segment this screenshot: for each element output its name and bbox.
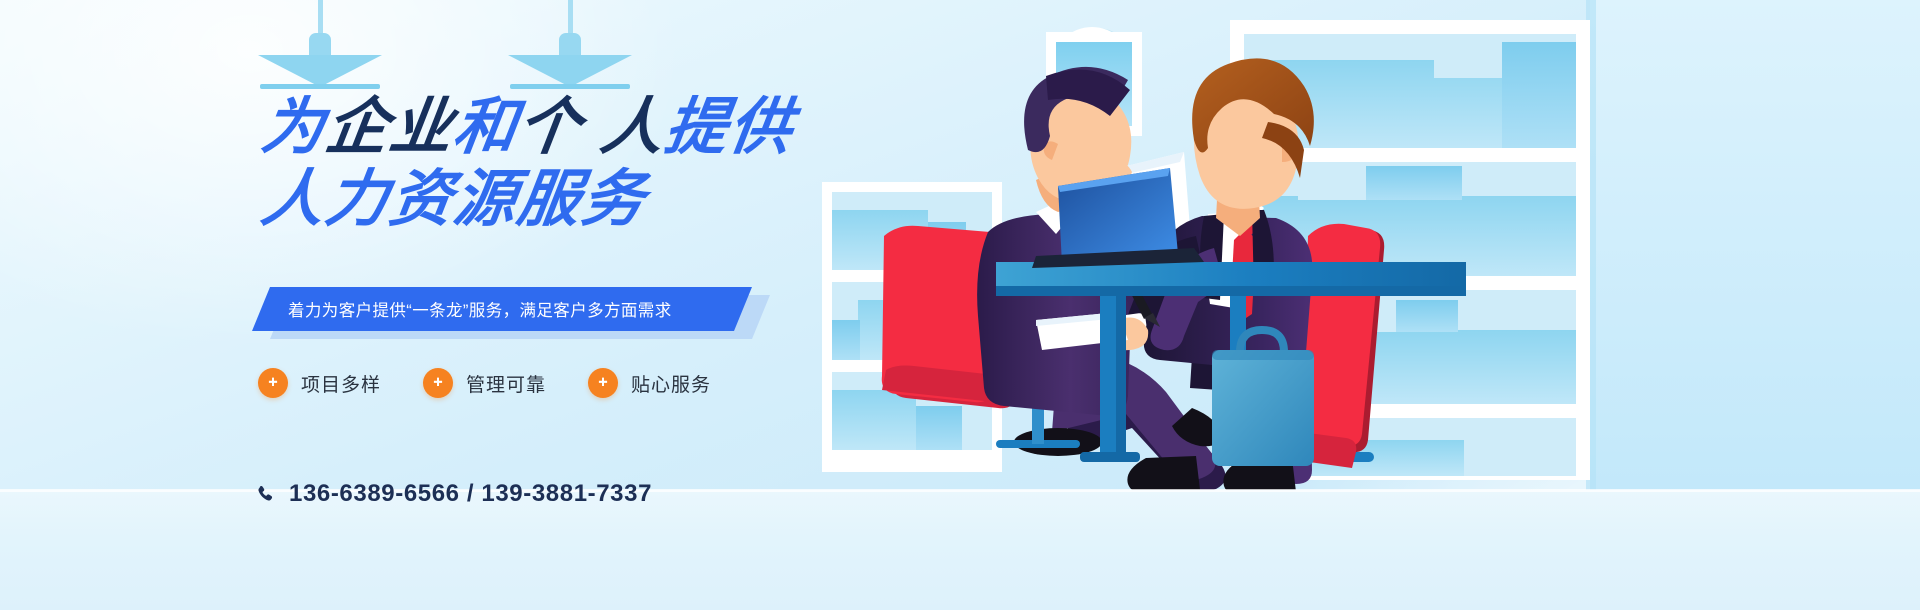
headline-part-3: 和: [449, 95, 522, 161]
desk-leg-left: [1100, 296, 1116, 456]
headline-part-1: 为: [257, 95, 330, 161]
contact-phone[interactable]: 136-6389-6566 / 139-3881-7337: [256, 480, 652, 508]
briefcase: [1212, 330, 1314, 466]
headline-part-5: 提供: [661, 95, 798, 161]
phone-number: 136-6389-6566 / 139-3881-7337: [289, 480, 652, 508]
plus-icon: [588, 368, 618, 398]
headline-line-1: 为企业和个 人提供: [257, 95, 798, 161]
hero-banner: 为企业和个 人提供 人力资源服务 着力为客户提供“一条龙”服务，满足客户多方面需…: [0, 0, 1920, 610]
subtitle-text: 着力为客户提供“一条龙”服务，满足客户多方面需求: [252, 297, 672, 321]
headline-part-4: 个 人: [513, 95, 670, 161]
phone-icon: [256, 484, 276, 504]
feature-label: 项目多样: [301, 370, 381, 397]
plus-icon: [423, 368, 453, 398]
feature-item[interactable]: 项目多样: [258, 368, 381, 398]
hero-content: 为企业和个 人提供 人力资源服务 着力为客户提供“一条龙”服务，满足客户多方面需…: [0, 0, 860, 610]
feature-item[interactable]: 贴心服务: [588, 368, 711, 398]
wall-picture-frame-large: [1240, 20, 1244, 140]
page-title: 为企业和个 人提供 人力资源服务: [262, 95, 793, 233]
feature-label: 管理可靠: [466, 370, 546, 397]
subtitle-banner-bar: 着力为客户提供“一条龙”服务，满足客户多方面需求: [252, 287, 752, 331]
headline-line-2: 人力资源服务: [257, 167, 798, 233]
subtitle-banner: 着力为客户提供“一条龙”服务，满足客户多方面需求: [252, 287, 772, 333]
plus-icon: [258, 368, 288, 398]
feature-label: 贴心服务: [631, 370, 711, 397]
wall-panel-right: [1590, 0, 1920, 500]
feature-list: 项目多样 管理可靠 贴心服务: [258, 368, 711, 398]
feature-item[interactable]: 管理可靠: [423, 368, 546, 398]
headline-part-2: 企业: [321, 95, 458, 161]
